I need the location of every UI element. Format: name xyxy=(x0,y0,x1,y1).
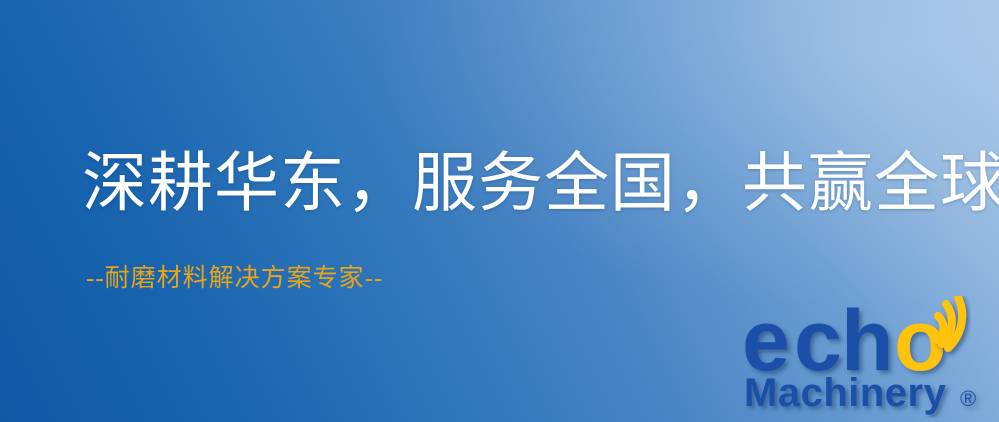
echo-machinery-logo: e c h o Machinery ® xyxy=(742,296,994,418)
promo-banner: 深耕华东，服务全国，共赢全球 --耐磨材料解决方案专家-- e c h o xyxy=(0,0,999,422)
page-subtitle: --耐磨材料解决方案专家-- xyxy=(86,266,383,291)
registered-trademark-icon: ® xyxy=(960,386,976,411)
logo-tagline: Machinery xyxy=(744,371,947,415)
page-title: 深耕华东，服务全国，共赢全球 xyxy=(82,152,999,217)
